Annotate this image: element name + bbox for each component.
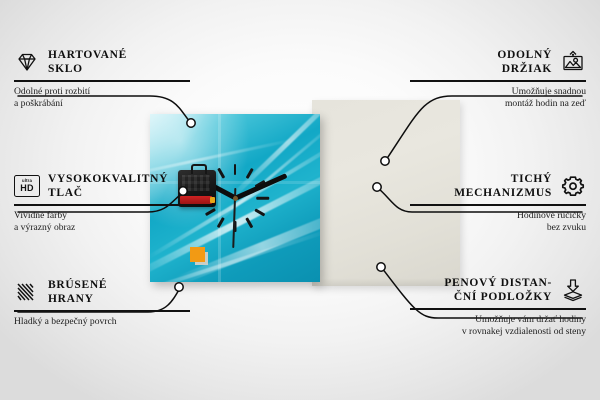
feature-head: PENOVÝ DISTAN- ČNÍ PODLOŽKY <box>410 276 586 304</box>
divider <box>410 308 586 310</box>
feature-head: HARTOVANÉ SKLO <box>14 48 190 76</box>
clock-center-cap <box>233 196 238 201</box>
gear-icon <box>560 173 586 199</box>
feature-title: PENOVÝ DISTAN- ČNÍ PODLOŽKY <box>444 276 552 304</box>
feature-description: Umožňuje vám držať hodiny v rovnakej vzd… <box>410 314 586 339</box>
hatched-edge-icon <box>14 279 40 305</box>
glass-seam <box>218 114 221 282</box>
feature-head: ultra HD VYSOKOKVALITNÝ TLAČ <box>14 172 190 200</box>
feature-description: Odolné proti rozbití a poškrábání <box>14 86 190 111</box>
feature-title: BRÚSENÉ HRANY <box>48 278 107 306</box>
feature-foam-spacers: PENOVÝ DISTAN- ČNÍ PODLOŽKY Umožňuje vám… <box>410 276 586 338</box>
press-layers-icon <box>560 277 586 303</box>
feature-description: Hladký a bezpečný povrch <box>14 316 190 328</box>
hd-label: HD <box>20 184 33 193</box>
divider <box>14 310 190 312</box>
ultra-hd-icon: ultra HD <box>14 173 40 199</box>
divider <box>14 204 190 206</box>
diamond-icon <box>14 49 40 75</box>
feature-title: VYSOKOKVALITNÝ TLAČ <box>48 172 168 200</box>
feature-description: Umožňuje snadnou montáž hodin na zeď <box>410 86 586 111</box>
feature-title: HARTOVANÉ SKLO <box>48 48 127 76</box>
feature-high-quality-print: ultra HD VYSOKOKVALITNÝ TLAČ Vividné far… <box>14 172 190 234</box>
feature-polished-edges: BRÚSENÉ HRANY Hladký a bezpečný povrch <box>14 278 190 328</box>
feature-description: Vividné farby a výrazný obraz <box>14 210 190 235</box>
feature-head: ODOLNÝ DRŽIAK <box>410 48 586 76</box>
foam-spacer-pad <box>190 247 205 262</box>
feature-tempered-glass: HARTOVANÉ SKLO Odolné proti rozbití a po… <box>14 48 190 110</box>
picture-hanger-icon <box>560 49 586 75</box>
feature-title: TICHÝ MECHANIZMUS <box>454 172 552 200</box>
divider <box>410 80 586 82</box>
feature-silent-mechanism: TICHÝ MECHANIZMUS Hodinové ručičky bez z… <box>410 172 586 234</box>
feature-head: TICHÝ MECHANIZMUS <box>410 172 586 200</box>
feature-head: BRÚSENÉ HRANY <box>14 278 190 306</box>
feature-title: ODOLNÝ DRŽIAK <box>497 48 552 76</box>
product-infographic: HARTOVANÉ SKLO Odolné proti rozbití a po… <box>0 0 600 400</box>
feature-durable-holder: ODOLNÝ DRŽIAK Umožňuje snadnou montáž h <box>410 48 586 110</box>
divider <box>14 80 190 82</box>
mechanism-hanger <box>191 164 207 174</box>
feature-description: Hodinové ručičky bez zvuku <box>410 210 586 235</box>
ultra-hd-badge: ultra HD <box>14 175 40 197</box>
divider <box>410 204 586 206</box>
